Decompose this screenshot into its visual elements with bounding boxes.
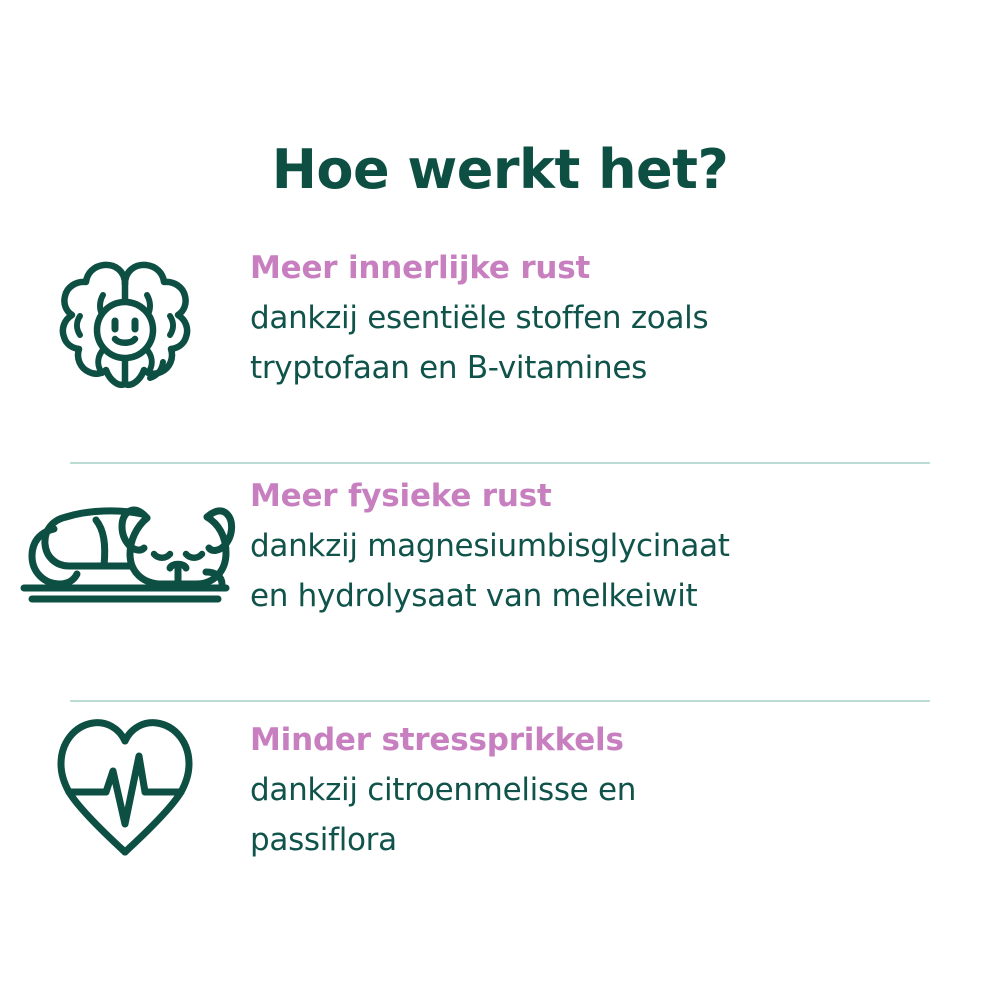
benefit-body-line: dankzij citroenmelisse en	[250, 765, 880, 815]
benefit-item-stressprikkels: Minder stressprikkels dankzij citroenmel…	[0, 702, 1000, 932]
benefit-item-innerlijke-rust: Meer innerlijke rust dankzij esentiële s…	[0, 238, 1000, 462]
benefit-body: dankzij esentiële stoffen zoals tryptofa…	[250, 293, 880, 393]
benefit-body-line: dankzij magnesiumbisglycinaat	[250, 521, 880, 571]
page-title: Hoe werkt het?	[0, 140, 1000, 199]
benefit-body: dankzij citroenmelisse en passiflora	[250, 765, 880, 865]
benefit-body-line: dankzij esentiële stoffen zoals	[250, 293, 880, 343]
benefit-text-block: Meer fysieke rust dankzij magnesiumbisgl…	[250, 464, 1000, 621]
heart-pulse-icon	[0, 702, 250, 861]
benefit-body-line: en hydrolysaat van melkeiwit	[250, 571, 880, 621]
sleeping-dog-icon	[0, 464, 250, 614]
benefit-heading: Meer innerlijke rust	[250, 250, 960, 287]
benefit-heading: Meer fysieke rust	[250, 478, 960, 515]
benefit-item-fysieke-rust: Meer fysieke rust dankzij magnesiumbisgl…	[0, 464, 1000, 700]
benefit-body-line: passiflora	[250, 815, 880, 865]
brain-smiley-icon	[0, 238, 250, 410]
benefit-text-block: Minder stressprikkels dankzij citroenmel…	[250, 702, 1000, 865]
benefit-text-block: Meer innerlijke rust dankzij esentiële s…	[250, 238, 1000, 393]
how-it-works-panel: Hoe werkt het?	[0, 0, 1000, 1000]
benefit-heading: Minder stressprikkels	[250, 722, 960, 759]
benefits-list: Meer innerlijke rust dankzij esentiële s…	[0, 238, 1000, 932]
benefit-body-line: tryptofaan en B-vitamines	[250, 343, 880, 393]
benefit-body: dankzij magnesiumbisglycinaat en hydroly…	[250, 521, 880, 621]
